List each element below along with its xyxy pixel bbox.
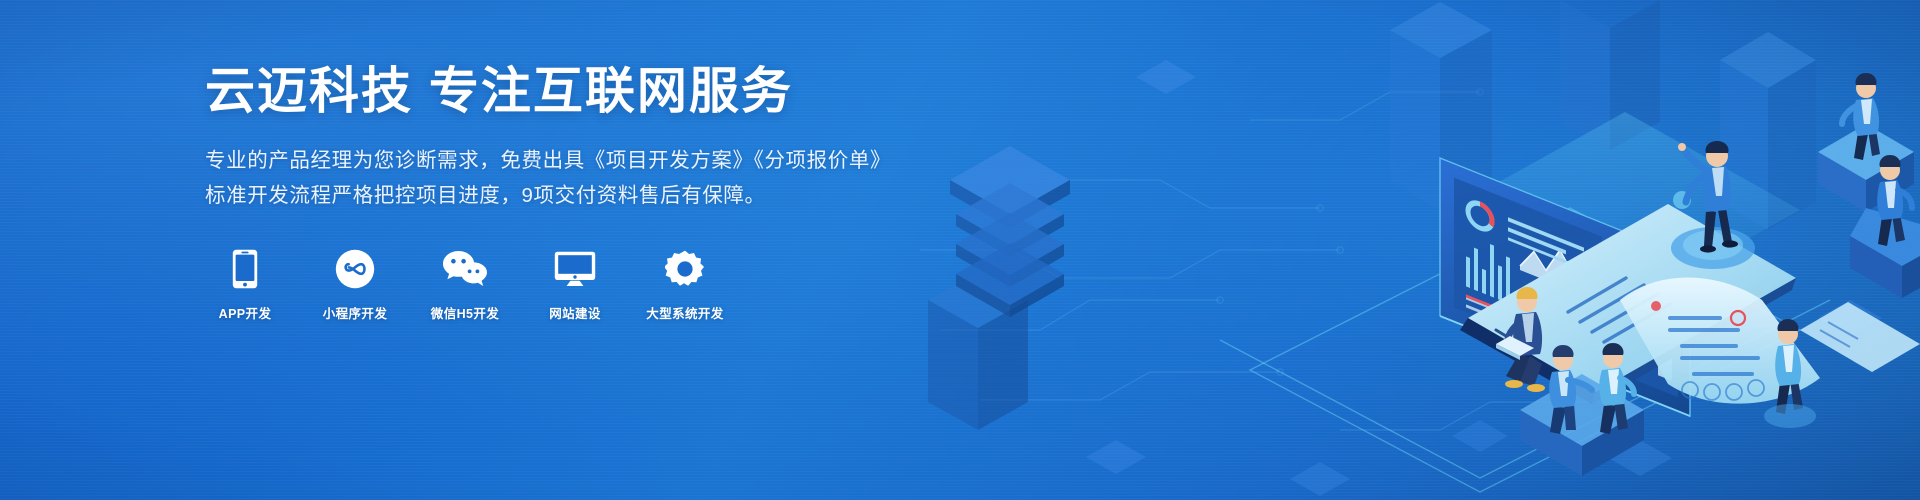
service-label: 大型系统开发: [646, 303, 723, 322]
right-blocks: [1818, 124, 1920, 298]
service-item-large-system[interactable]: 大型系统开发: [645, 248, 725, 322]
isometric-illustration: [920, 0, 1920, 500]
banner-content: 云迈科技 专注互联网服务 专业的产品经理为您诊断需求，免费出具《项目开发方案》《…: [205, 62, 905, 322]
service-item-wechat-h5[interactable]: 微信H5开发: [425, 248, 505, 322]
service-label: 微信H5开发: [431, 303, 499, 322]
hero-banner: 云迈科技 专注互联网服务 专业的产品经理为您诊断需求，免费出具《项目开发方案》《…: [0, 0, 1920, 500]
mobile-phone-icon: [232, 248, 258, 290]
mini-screen-card: [1800, 302, 1920, 372]
stacked-plates: [950, 146, 1070, 317]
service-list: APP开发 小程序开发: [205, 248, 905, 322]
service-label: 网站建设: [549, 303, 601, 322]
service-label: 小程序开发: [323, 303, 388, 322]
wechat-icon: [442, 248, 488, 290]
service-item-miniprogram[interactable]: 小程序开发: [315, 248, 395, 322]
banner-subtitle: 专业的产品经理为您诊断需求，免费出具《项目开发方案》《分项报价单》 标准开发流程…: [205, 143, 905, 214]
page-title: 云迈科技 专注互联网服务: [205, 62, 905, 121]
mini-program-icon: [335, 248, 375, 290]
service-item-app[interactable]: APP开发: [205, 248, 285, 322]
subtitle-line-1: 专业的产品经理为您诊断需求，免费出具《项目开发方案》《分项报价单》: [205, 143, 905, 178]
monitor-icon: [554, 248, 596, 290]
subtitle-line-2: 标准开发流程严格把控项目进度，9项交付资料售后有保障。: [205, 178, 905, 213]
service-item-website[interactable]: 网站建设: [535, 248, 615, 322]
gear-icon: [665, 248, 705, 290]
service-label: APP开发: [219, 303, 272, 322]
